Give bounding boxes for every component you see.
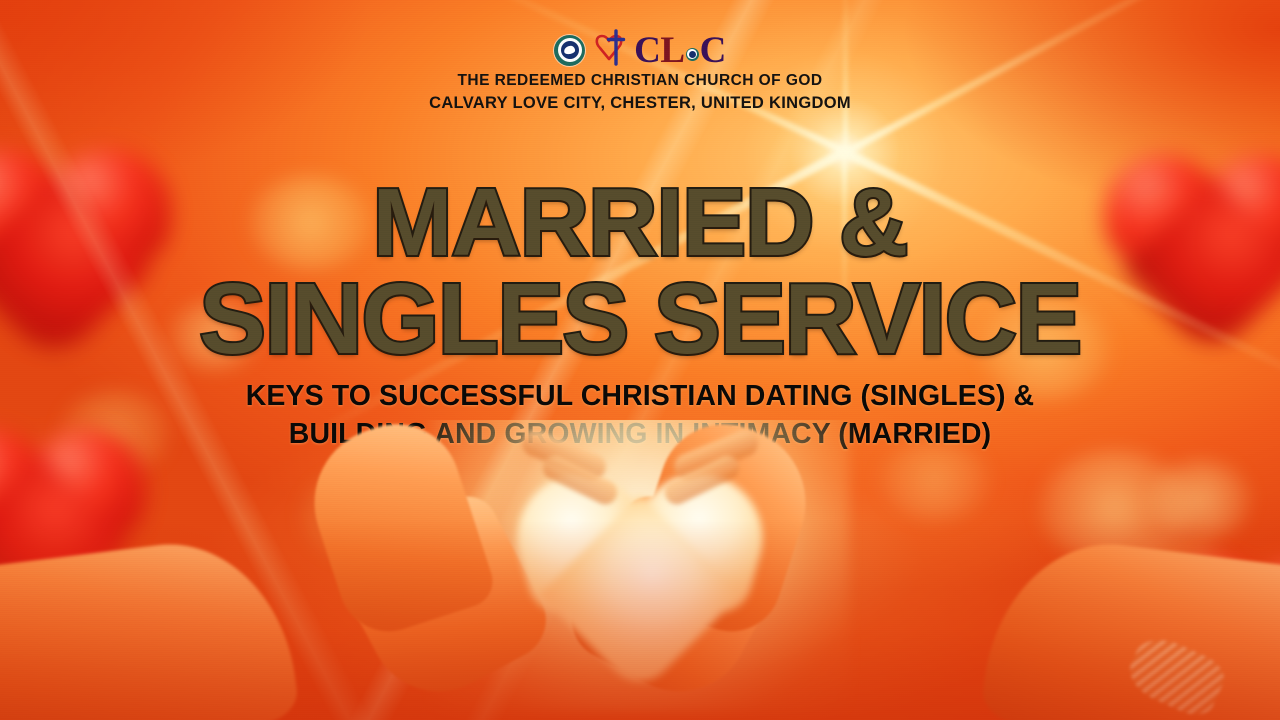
logo-lockup: C L C [0, 28, 1280, 72]
hands-forming-heart-photo [0, 420, 1280, 720]
clc-wordmark: C L C [634, 32, 726, 69]
heart-with-cross-icon [592, 28, 636, 72]
clc-letter-c1: C [634, 32, 660, 69]
bottom-vignette [0, 520, 1280, 720]
clc-mini-seal-icon [686, 48, 699, 61]
title-line-1: MARRIED & [0, 176, 1280, 270]
clc-letter-c2: C [700, 32, 726, 69]
subtitle-line-1: KEYS TO SUCCESSFUL CHRISTIAN DATING (SIN… [0, 378, 1280, 416]
dove-icon [564, 45, 576, 54]
poster-canvas: C L C THE REDEEMED CHRISTIAN CHURCH OF G… [0, 0, 1280, 720]
church-name-line1: THE REDEEMED CHRISTIAN CHURCH OF GOD [0, 70, 1280, 92]
title-line-2: SINGLES SERVICE [0, 270, 1280, 368]
rccg-dove-seal-icon [554, 35, 585, 66]
seal-core [561, 41, 579, 59]
clc-letter-l: L [660, 32, 684, 69]
church-name-line2: CALVARY LOVE CITY, CHESTER, UNITED KINGD… [0, 92, 1280, 115]
church-name-block: THE REDEEMED CHRISTIAN CHURCH OF GOD CAL… [0, 70, 1280, 115]
page-title: MARRIED & SINGLES SERVICE [0, 176, 1280, 368]
